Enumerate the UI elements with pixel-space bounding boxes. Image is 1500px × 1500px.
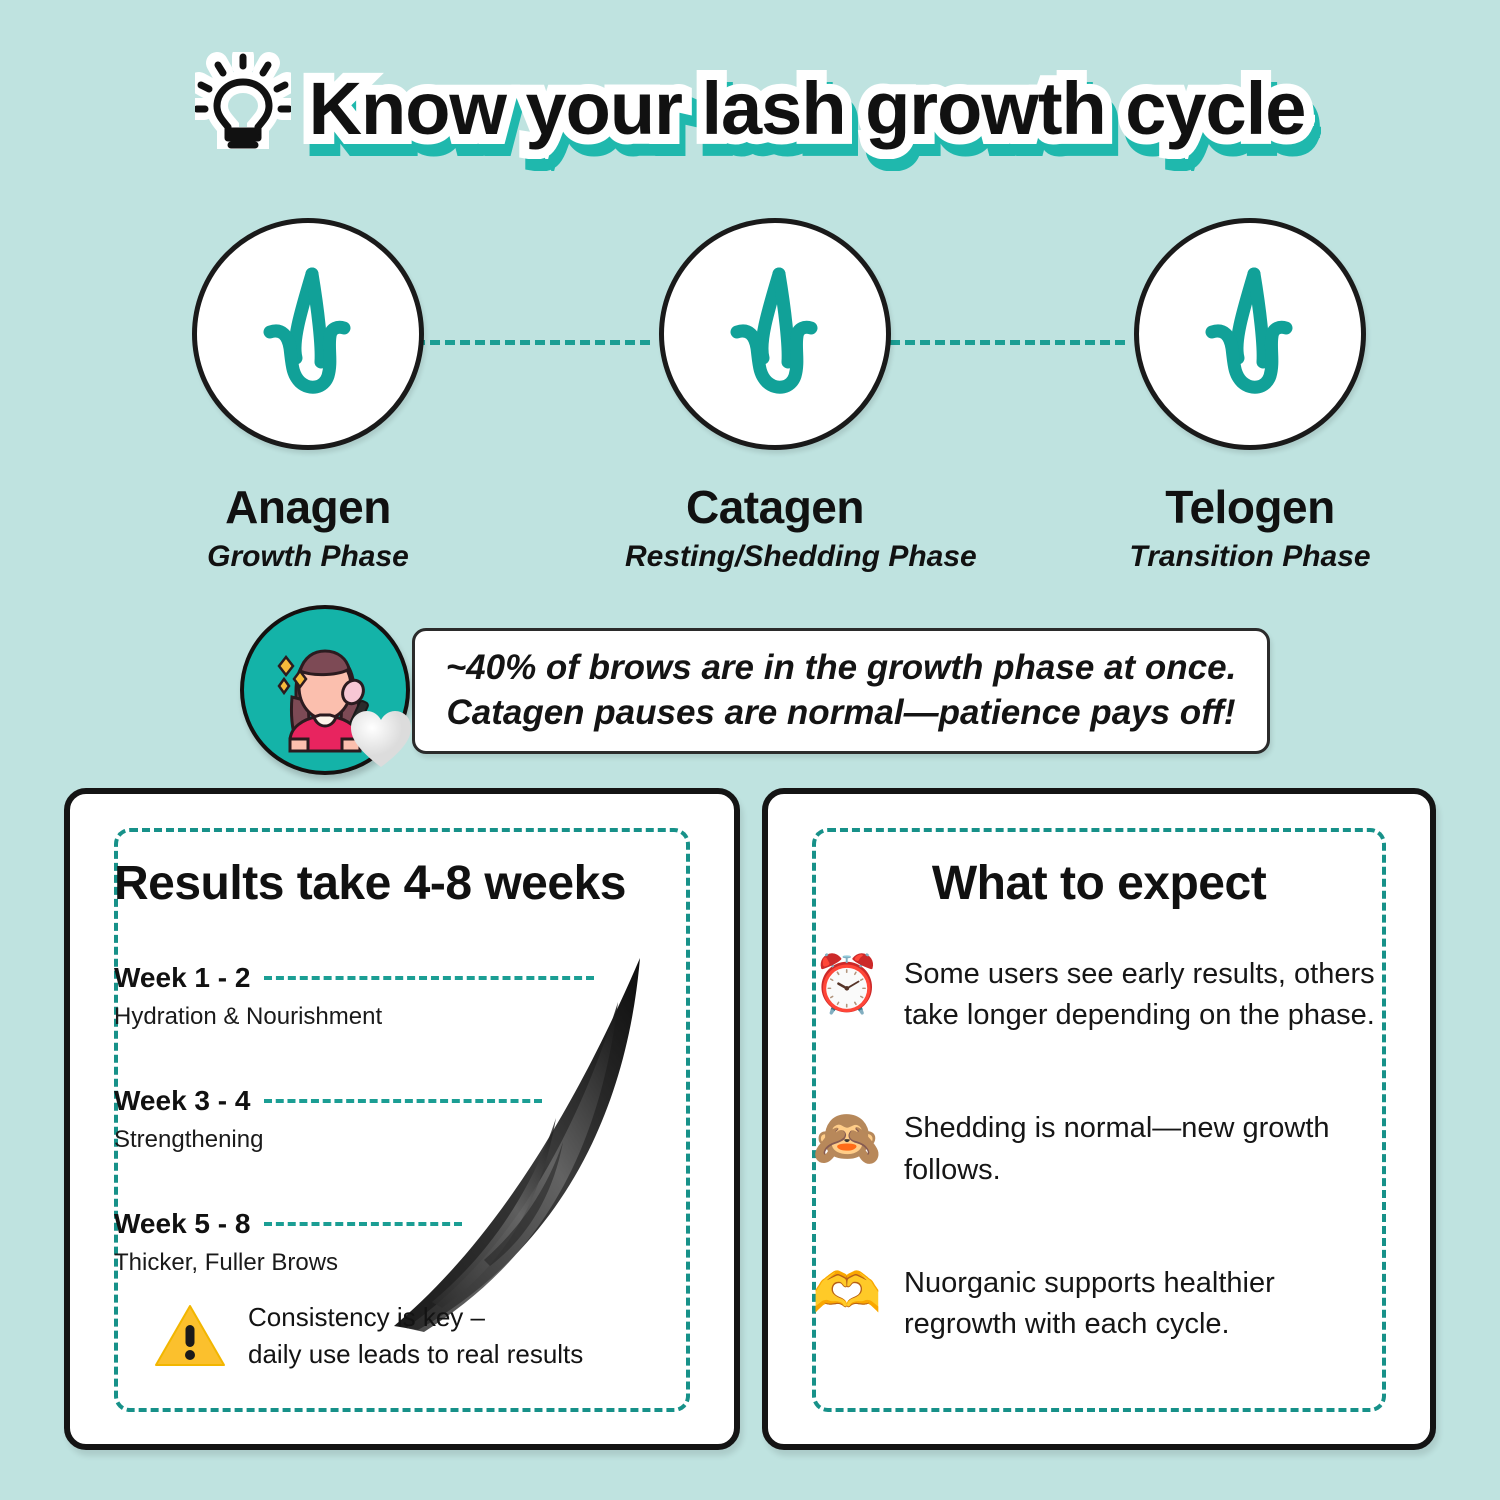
phase-name: Anagen xyxy=(158,480,458,534)
timeline-desc: Hydration & Nourishment xyxy=(114,1003,694,1031)
consistency-text: Consistency is key – daily use leads to … xyxy=(248,1299,583,1372)
results-card-title: Results take 4-8 weeks xyxy=(70,856,734,911)
consistency-line-1: Consistency is key – xyxy=(248,1299,583,1335)
phase-row: Anagen Growth Phase Catagen Resting/Shed… xyxy=(120,218,1380,578)
timeline-item: Week 5 - 8 Thicker, Fuller Brows xyxy=(114,1208,694,1277)
timeline-dash xyxy=(264,1099,542,1103)
page-title: Know your lash growth cycle xyxy=(309,66,1306,151)
lightbulb-icon xyxy=(195,52,291,164)
heart-icon xyxy=(348,708,414,770)
phase-subtitle: Resting/Shedding Phase xyxy=(625,540,925,574)
alarm-clock-icon: ⏰ xyxy=(812,954,878,1012)
phase-catagen: Catagen Resting/Shedding Phase xyxy=(625,218,925,574)
expect-list: ⏰ Some users see early results, others t… xyxy=(812,954,1386,1417)
timeline-desc: Strengthening xyxy=(114,1126,694,1154)
callout-line-1: ~40% of brows are in the growth phase at… xyxy=(446,646,1237,691)
hair-follicle-icon xyxy=(1190,262,1310,407)
timeline-desc: Thicker, Fuller Brows xyxy=(114,1249,694,1277)
list-item: 🙈 Shedding is normal—new growth follows. xyxy=(812,1108,1386,1190)
timeline-week: Week 3 - 4 xyxy=(114,1085,250,1117)
phase-subtitle: Growth Phase xyxy=(158,540,458,574)
heart-hands-icon: 🫶 xyxy=(812,1263,878,1321)
timeline-week: Week 1 - 2 xyxy=(114,962,250,994)
consistency-note: Consistency is key – daily use leads to … xyxy=(154,1299,583,1372)
phase-name: Telogen xyxy=(1100,480,1400,534)
list-item-text: Nuorganic supports healthier regrowth wi… xyxy=(904,1263,1386,1345)
timeline-dash xyxy=(264,976,594,980)
list-item-text: Shedding is normal—new growth follows. xyxy=(904,1108,1386,1190)
phase-circle xyxy=(192,218,424,450)
stat-callout: ~40% of brows are in the growth phase at… xyxy=(240,600,1270,780)
expect-card-title: What to expect xyxy=(768,856,1430,911)
consistency-line-2: daily use leads to real results xyxy=(248,1336,583,1372)
phase-telogen: Telogen Transition Phase xyxy=(1100,218,1400,574)
callout-box: ~40% of brows are in the growth phase at… xyxy=(412,628,1270,754)
page-header: Know your lash growth cycle xyxy=(0,48,1500,168)
hair-follicle-icon xyxy=(715,262,835,407)
timeline-week: Week 5 - 8 xyxy=(114,1208,250,1240)
phase-anagen: Anagen Growth Phase xyxy=(158,218,458,574)
phase-circle xyxy=(1134,218,1366,450)
expect-card: What to expect ⏰ Some users see early re… xyxy=(762,788,1436,1450)
phase-subtitle: Transition Phase xyxy=(1100,540,1400,574)
timeline-item: Week 3 - 4 Strengthening xyxy=(114,1085,694,1154)
phase-circle xyxy=(659,218,891,450)
timeline-dash xyxy=(264,1222,462,1226)
phase-name: Catagen xyxy=(625,480,925,534)
list-item-text: Some users see early results, others tak… xyxy=(904,954,1386,1036)
timeline-item: Week 1 - 2 Hydration & Nourishment xyxy=(114,962,694,1031)
list-item: ⏰ Some users see early results, others t… xyxy=(812,954,1386,1036)
results-timeline: Week 1 - 2 Hydration & Nourishment Week … xyxy=(114,962,694,1331)
face-with-hands-icon: 🙈 xyxy=(812,1108,878,1166)
list-item: 🫶 Nuorganic supports healthier regrowth … xyxy=(812,1263,1386,1345)
callout-line-2: Catagen pauses are normal—patience pays … xyxy=(446,691,1235,736)
hair-follicle-icon xyxy=(248,262,368,407)
warning-triangle-icon xyxy=(154,1303,226,1369)
results-card: Results take 4-8 weeks xyxy=(64,788,740,1450)
